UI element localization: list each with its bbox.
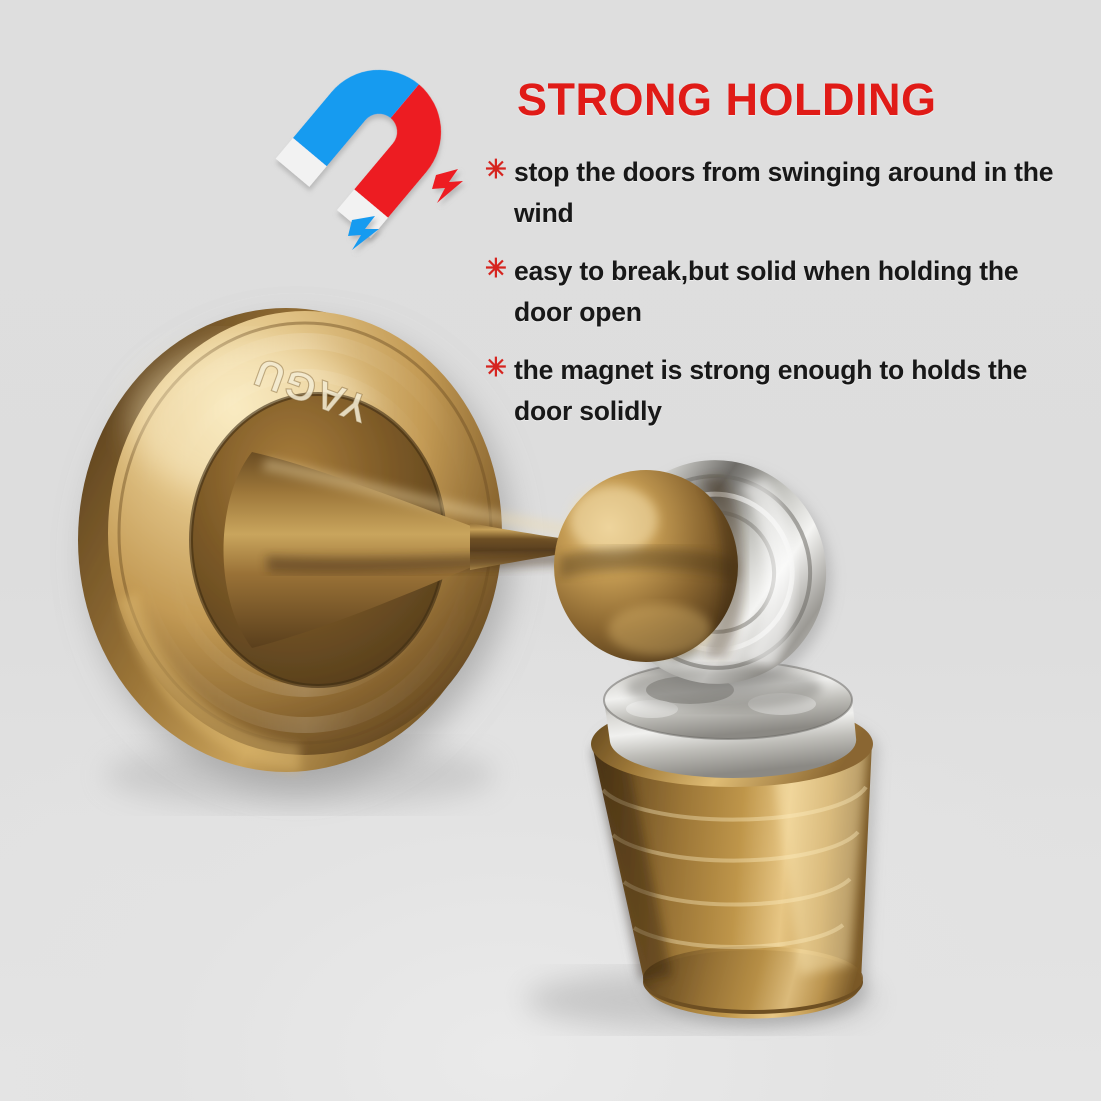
brass-ball-head	[554, 470, 745, 662]
magnetic-door-stopper-photo: YAGU	[0, 0, 1101, 1101]
head-to-disc-shadow	[626, 666, 822, 710]
product-feature-image: STRONG HOLDING ✳ stop the doors from swi…	[0, 0, 1101, 1101]
ball-highlight	[570, 486, 658, 554]
ball-bounce-light	[608, 604, 712, 656]
